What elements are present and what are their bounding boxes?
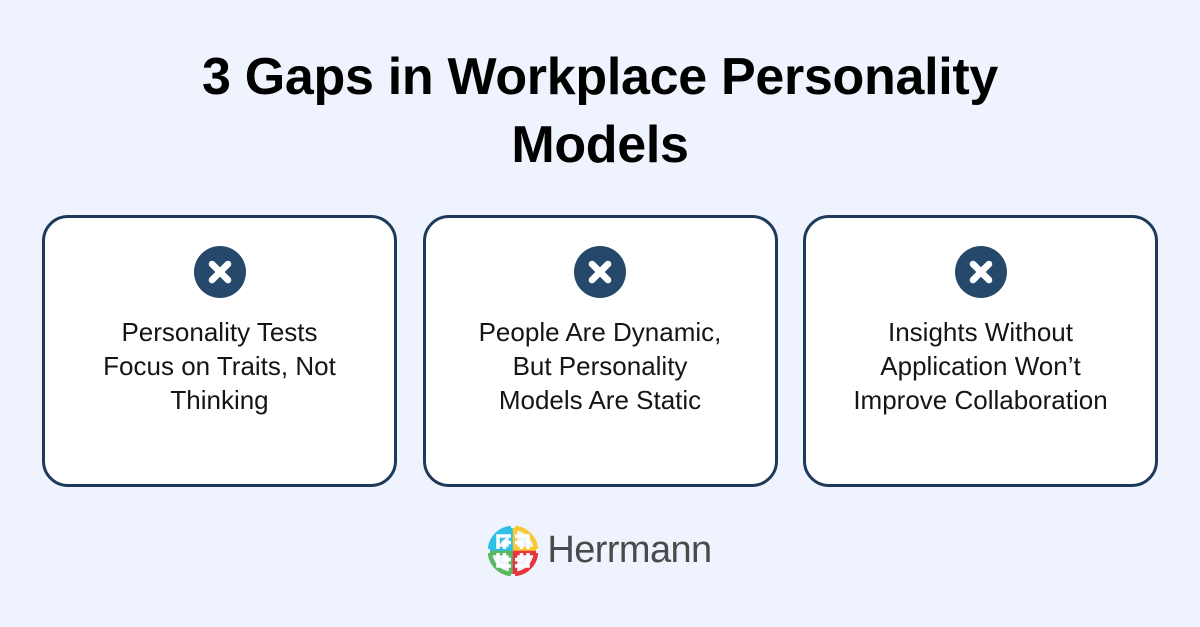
brand-wordmark: Herrmann	[547, 531, 711, 571]
page-title: 3 Gaps in Workplace Personality Models	[100, 44, 1100, 179]
brand-logo: Herrmann	[0, 526, 1200, 576]
gap-card-3-text: Insights Without Application Won’t Impro…	[831, 316, 1131, 417]
x-circle-icon	[574, 246, 626, 298]
herrmann-quadrant-logo-icon	[488, 526, 538, 576]
page-title-line-1: 3 Gaps in Workplace Personality	[100, 44, 1100, 112]
gap-card-2: People Are Dynamic, But Personality Mode…	[423, 215, 778, 487]
x-circle-icon	[955, 246, 1007, 298]
page-title-line-2: Models	[100, 112, 1100, 180]
gap-card-1: Personality Tests Focus on Traits, Not T…	[42, 215, 397, 487]
x-circle-icon	[194, 246, 246, 298]
gap-card-3: Insights Without Application Won’t Impro…	[803, 215, 1158, 487]
gap-card-2-text: People Are Dynamic, But Personality Mode…	[450, 316, 750, 417]
gap-card-1-text: Personality Tests Focus on Traits, Not T…	[70, 316, 370, 417]
gap-cards-row: Personality Tests Focus on Traits, Not T…	[42, 215, 1158, 487]
infographic-page: 3 Gaps in Workplace Personality Models P…	[0, 0, 1200, 627]
